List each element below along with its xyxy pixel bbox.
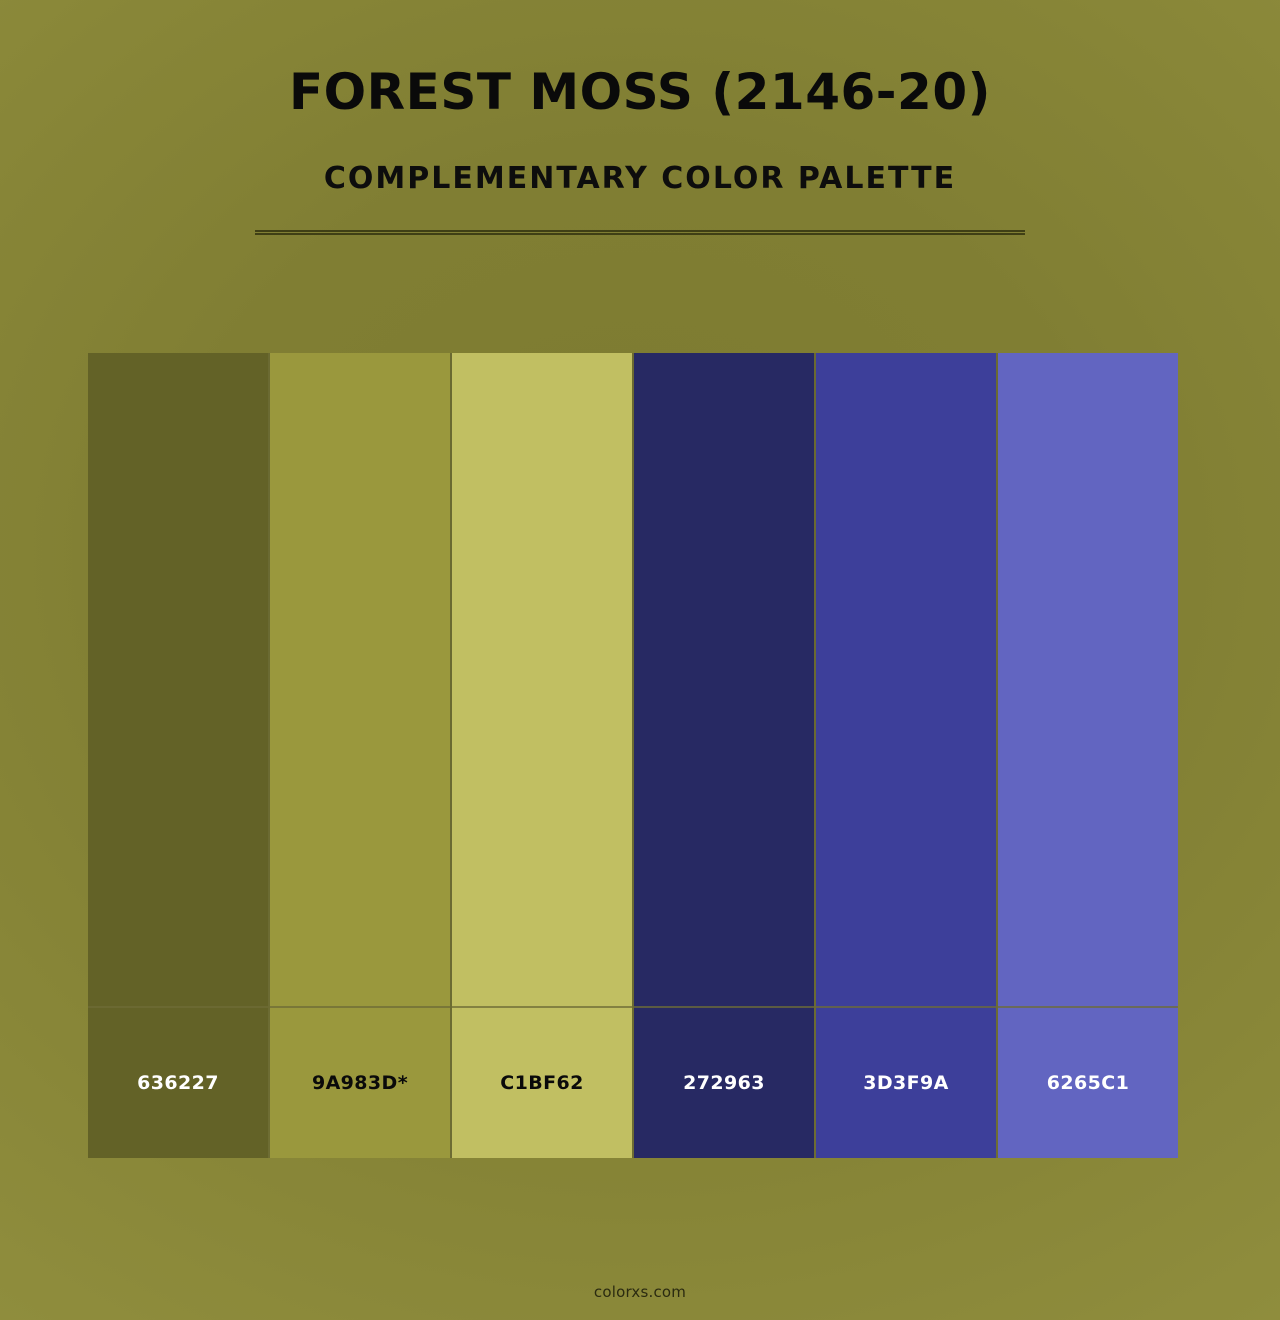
color-swatch-block[interactable]: [816, 353, 996, 1008]
color-swatch[interactable]: 636227: [88, 353, 270, 1158]
color-swatch[interactable]: 6265C1: [998, 353, 1178, 1158]
color-hex-label: 272963: [683, 1072, 765, 1094]
color-swatch[interactable]: C1BF62: [452, 353, 634, 1158]
color-swatch[interactable]: 3D3F9A: [816, 353, 998, 1158]
color-hex-label: 636227: [137, 1072, 219, 1094]
page-footer: colorxs.com: [0, 1282, 1280, 1301]
color-swatch-label-strip: 272963: [634, 1008, 814, 1158]
color-swatch-label-strip: 3D3F9A: [816, 1008, 996, 1158]
color-hex-label: C1BF62: [500, 1072, 583, 1094]
color-swatch-block[interactable]: [452, 353, 632, 1008]
color-swatch[interactable]: 9A983D*: [270, 353, 452, 1158]
color-swatch-label-strip: 9A983D*: [270, 1008, 450, 1158]
color-swatch-block[interactable]: [270, 353, 450, 1008]
color-swatch-label-strip: 636227: [88, 1008, 268, 1158]
color-swatch-label-strip: 6265C1: [998, 1008, 1178, 1158]
page-header: FOREST MOSS (2146-20) COMPLEMENTARY COLO…: [0, 0, 1280, 235]
color-swatch-label-strip: C1BF62: [452, 1008, 632, 1158]
color-hex-label: 6265C1: [1047, 1072, 1129, 1094]
color-swatch-block[interactable]: [634, 353, 814, 1008]
page-subtitle: COMPLEMENTARY COLOR PALETTE: [0, 161, 1280, 196]
color-hex-label: 9A983D*: [312, 1072, 408, 1094]
color-swatch-block[interactable]: [88, 353, 268, 1008]
color-swatch[interactable]: 272963: [634, 353, 816, 1158]
color-swatch-block[interactable]: [998, 353, 1178, 1008]
color-palette-page: { "page": { "background_color": "#7d7b31…: [0, 0, 1280, 1320]
color-hex-label: 3D3F9A: [863, 1072, 949, 1094]
page-title: FOREST MOSS (2146-20): [0, 66, 1280, 119]
color-swatch-row: 6362279A983D*C1BF622729633D3F9A6265C1: [88, 353, 1178, 1158]
header-divider: [255, 230, 1025, 235]
footer-site-label: colorxs.com: [594, 1283, 686, 1301]
